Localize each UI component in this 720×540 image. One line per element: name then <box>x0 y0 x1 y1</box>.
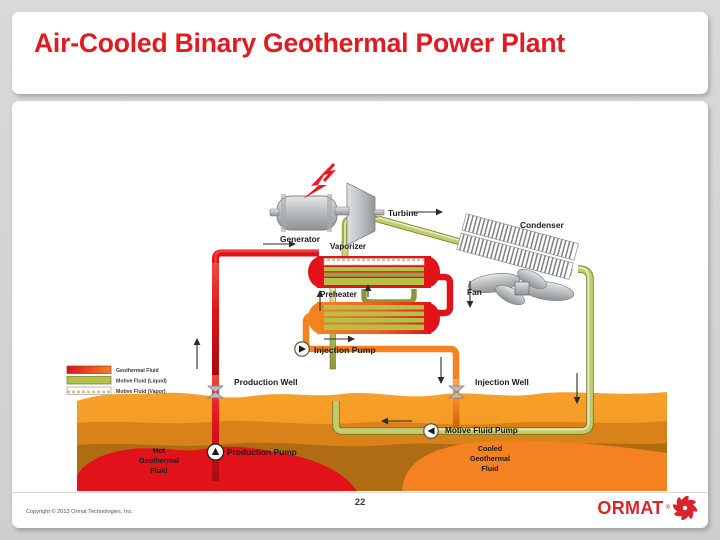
turbine: Turbine <box>347 183 418 245</box>
injection-pump-label: Injection Pump <box>314 345 376 355</box>
copyright-notice: Copyright © 2013 Ormat Technologies, Inc… <box>26 509 133 515</box>
legend-swatch-geothermal <box>67 366 111 374</box>
generator-shaft-left <box>270 209 279 216</box>
preheater-tube-4 <box>324 325 424 331</box>
production-wellhead-valve-icon <box>208 386 223 398</box>
arrow-injection-head <box>348 336 355 343</box>
arrow-injection-well-head <box>438 377 445 384</box>
preheater-tube-2 <box>324 312 424 317</box>
arrow-riser-head <box>194 338 201 345</box>
lightning-spark-icon <box>324 164 334 181</box>
pinwheel-icon <box>672 495 698 521</box>
content-card: Hot Geothermal Fluid Cooled Geothermal F… <box>12 101 708 528</box>
preheater: Preheater <box>308 290 440 334</box>
legend-label-motive-liquid: Motive Fluid (Liquid) <box>116 379 167 385</box>
production-pump-label: Production Pump <box>227 447 297 457</box>
condenser-label: Condenser <box>520 220 564 230</box>
vaporizer-tube-2 <box>324 273 424 277</box>
cooled-reservoir-label-line1: Cooled <box>478 444 502 453</box>
generator: Generator <box>270 164 349 244</box>
hot-reservoir-label-line1: Hot <box>153 446 166 455</box>
generator-label: Generator <box>280 234 321 244</box>
generator-coupling <box>335 207 349 215</box>
diagram-svg: Hot Geothermal Fluid Cooled Geothermal F… <box>12 101 708 491</box>
page-title: Air-Cooled Binary Geothermal Power Plant <box>34 28 565 59</box>
hot-geothermal-riser <box>212 263 219 375</box>
title-card: Air-Cooled Binary Geothermal Power Plant <box>12 12 708 94</box>
vaporizer: Vaporizer <box>308 242 440 288</box>
legend: Geothermal Fluid Motive Fluid (Liquid) M… <box>67 366 167 395</box>
power-plant-diagram: Hot Geothermal Fluid Cooled Geothermal F… <box>12 101 708 491</box>
underground-section: Hot Geothermal Fluid Cooled Geothermal F… <box>72 392 667 491</box>
hot-geothermal-pipe <box>216 253 320 266</box>
preheater-label: Preheater <box>320 290 357 299</box>
legend-label-geothermal: Geothermal Fluid <box>116 368 159 374</box>
vaporizer-tube-1 <box>324 267 424 271</box>
preheater-tube-1 <box>324 305 424 310</box>
vaporizer-tube-3 <box>324 278 424 285</box>
generator-rib-right <box>327 194 332 232</box>
production-well-label: Production Well <box>234 377 298 387</box>
ormat-logo-wordmark: ORMAT <box>597 498 663 519</box>
slide: Air-Cooled Binary Geothermal Power Plant <box>0 0 720 540</box>
cooled-reservoir-label-line2: Geothermal <box>470 454 510 463</box>
cooled-reservoir-label-line3: Fluid <box>481 464 498 473</box>
preheater-tube-3 <box>324 318 424 323</box>
fan-hub <box>515 282 529 295</box>
registered-trademark-icon: ® <box>666 505 670 511</box>
hot-reservoir-label-line2: Geothermal <box>139 456 179 465</box>
injection-wellhead-valve-icon <box>449 386 464 398</box>
fan-label: Fan <box>467 287 482 297</box>
vaporizer-bottom-link <box>364 289 414 302</box>
footer-divider <box>12 492 708 493</box>
arrow-crossover-head <box>467 301 474 308</box>
legend-label-motive-vapor: Motive Fluid (Vapor) <box>116 389 166 395</box>
arrow-vapor-header-head <box>436 209 443 216</box>
legend-swatch-motive-liquid <box>67 377 111 385</box>
injection-well-label: Injection Well <box>475 377 529 387</box>
legend-swatch-motive-vapor <box>67 387 111 395</box>
ormat-logo: ORMAT ® <box>597 495 698 521</box>
hot-reservoir-label-line3: Fluid <box>150 466 167 475</box>
turbine-shaft-right <box>374 210 384 215</box>
generator-rib-left <box>281 194 286 232</box>
turbine-label: Turbine <box>388 208 418 218</box>
vaporizer-vapor-band <box>324 259 424 266</box>
condenser: Condenser <box>457 214 579 280</box>
turbine-body <box>347 183 375 245</box>
motive-fluid-pump-label: Motive Fluid Pump <box>445 426 518 435</box>
